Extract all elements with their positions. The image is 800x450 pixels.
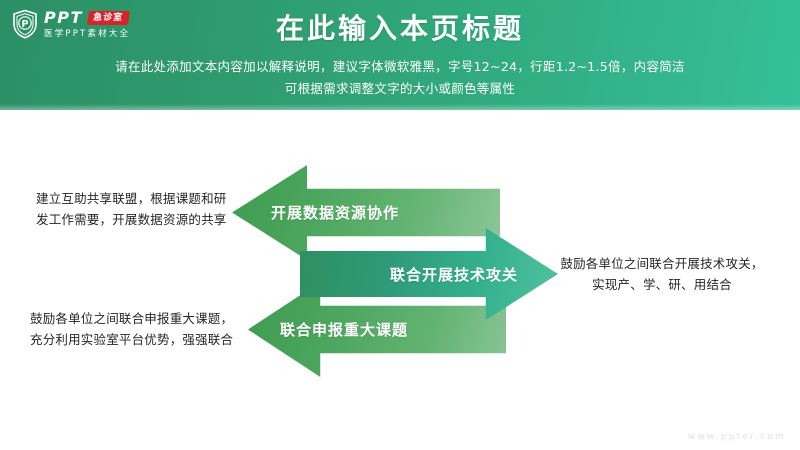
page-title: 在此输入本页标题: [0, 12, 800, 46]
arrow-shape-data-collaboration[interactable]: 开展数据资源协作: [232, 165, 500, 260]
page-subtitle-line-2: 可根据需求调整文字的大小或颜色等属性: [60, 78, 740, 100]
header-band: P PPT 急诊室 医学PPT素材大全 在此输入本页标题 请在此处添加文本内容加…: [0, 0, 800, 110]
description-right: 鼓励各单位之间联合开展技术攻关，实现产、学、研、用结合: [558, 253, 766, 295]
arrow-label-joint-application: 联合申报重大课题: [280, 319, 408, 340]
page-subtitle: 请在此处添加文本内容加以解释说明，建议字体微软雅黑，字号12~24，行距1.2~…: [60, 56, 740, 100]
arrow-label-tech-research: 联合开展技术攻关: [390, 264, 518, 285]
description-left-bottom: 鼓励各单位之间联合申报重大课题，充分利用实验室平台优势，强强联合: [30, 308, 235, 350]
arrow-diagram: 建立互助共享联盟，根据课题和研发工作需要，开展数据资源的共享 鼓励各单位之间联合…: [0, 110, 800, 450]
arrow-label-data-collaboration: 开展数据资源协作: [271, 202, 399, 223]
description-left-top: 建立互助共享联盟，根据课题和研发工作需要，开展数据资源的共享: [36, 188, 228, 230]
page-subtitle-line-1: 请在此处添加文本内容加以解释说明，建议字体微软雅黑，字号12~24，行距1.2~…: [60, 56, 740, 78]
site-watermark: www.ppter.com: [688, 432, 786, 442]
